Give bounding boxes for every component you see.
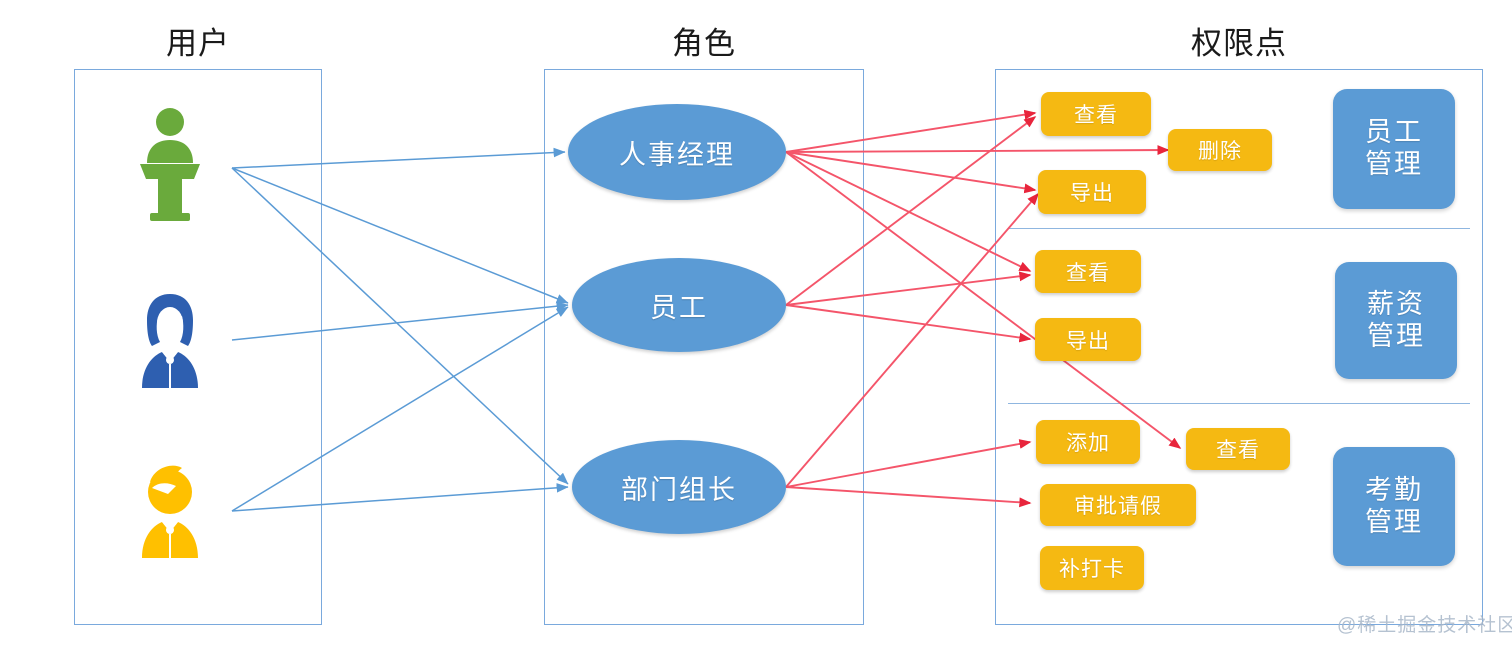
perm-att-add[interactable]: 添加 bbox=[1036, 420, 1140, 464]
perm-sal-export[interactable]: 导出 bbox=[1035, 318, 1141, 361]
perm-att-view[interactable]: 查看 bbox=[1186, 428, 1290, 470]
user-green[interactable] bbox=[130, 105, 210, 225]
column-title-permissions: 权限点 bbox=[995, 18, 1483, 63]
chip-label: 查看 bbox=[1066, 257, 1110, 287]
chip-label: 导出 bbox=[1070, 177, 1114, 207]
user-yellow[interactable] bbox=[132, 460, 208, 560]
perm-att-punch[interactable]: 补打卡 bbox=[1040, 546, 1144, 590]
module-attendance-management[interactable]: 考勤 管理 bbox=[1333, 447, 1455, 566]
role-team-lead[interactable]: 部门组长 bbox=[572, 440, 786, 534]
column-title-roles: 角色 bbox=[544, 18, 864, 63]
role-hr-manager[interactable]: 人事经理 bbox=[568, 104, 786, 200]
module-label-line-2: 管理 bbox=[1367, 321, 1425, 353]
perm-emp-view[interactable]: 查看 bbox=[1041, 92, 1151, 136]
module-salary-management[interactable]: 薪资 管理 bbox=[1335, 262, 1457, 379]
rbac-diagram: 用户 角色 权限点 bbox=[0, 0, 1512, 653]
perm-sal-view[interactable]: 查看 bbox=[1035, 250, 1141, 293]
chip-label: 查看 bbox=[1074, 99, 1118, 129]
role-label: 人事经理 bbox=[619, 133, 735, 172]
podium-speaker-icon bbox=[130, 105, 210, 225]
perm-emp-delete[interactable]: 删除 bbox=[1168, 129, 1272, 171]
module-label-line-1: 薪资 bbox=[1367, 289, 1425, 321]
permissions-group-divider-2 bbox=[1008, 403, 1470, 404]
watermark: @稀土掘金技术社区 bbox=[1337, 610, 1512, 637]
module-label-line-1: 员工 bbox=[1365, 117, 1423, 149]
chip-label: 删除 bbox=[1198, 135, 1242, 165]
role-label: 员工 bbox=[650, 286, 708, 325]
male-employee-icon bbox=[132, 460, 208, 560]
perm-emp-export[interactable]: 导出 bbox=[1038, 170, 1146, 214]
module-employee-management[interactable]: 员工 管理 bbox=[1333, 89, 1455, 209]
female-employee-icon bbox=[132, 290, 208, 390]
perm-att-approve[interactable]: 审批请假 bbox=[1040, 484, 1196, 526]
role-label: 部门组长 bbox=[621, 468, 737, 507]
chip-label: 补打卡 bbox=[1059, 553, 1125, 583]
role-employee[interactable]: 员工 bbox=[572, 258, 786, 352]
module-label-line-2: 管理 bbox=[1365, 507, 1423, 539]
permissions-group-divider-1 bbox=[1008, 228, 1470, 229]
chip-label: 审批请假 bbox=[1074, 490, 1162, 520]
user-blue[interactable] bbox=[132, 290, 208, 390]
chip-label: 导出 bbox=[1066, 325, 1110, 355]
chip-label: 添加 bbox=[1066, 427, 1110, 457]
module-label-line-2: 管理 bbox=[1365, 149, 1423, 181]
chip-label: 查看 bbox=[1216, 434, 1260, 464]
module-label-line-1: 考勤 bbox=[1365, 475, 1423, 507]
column-title-users: 用户 bbox=[74, 18, 322, 63]
